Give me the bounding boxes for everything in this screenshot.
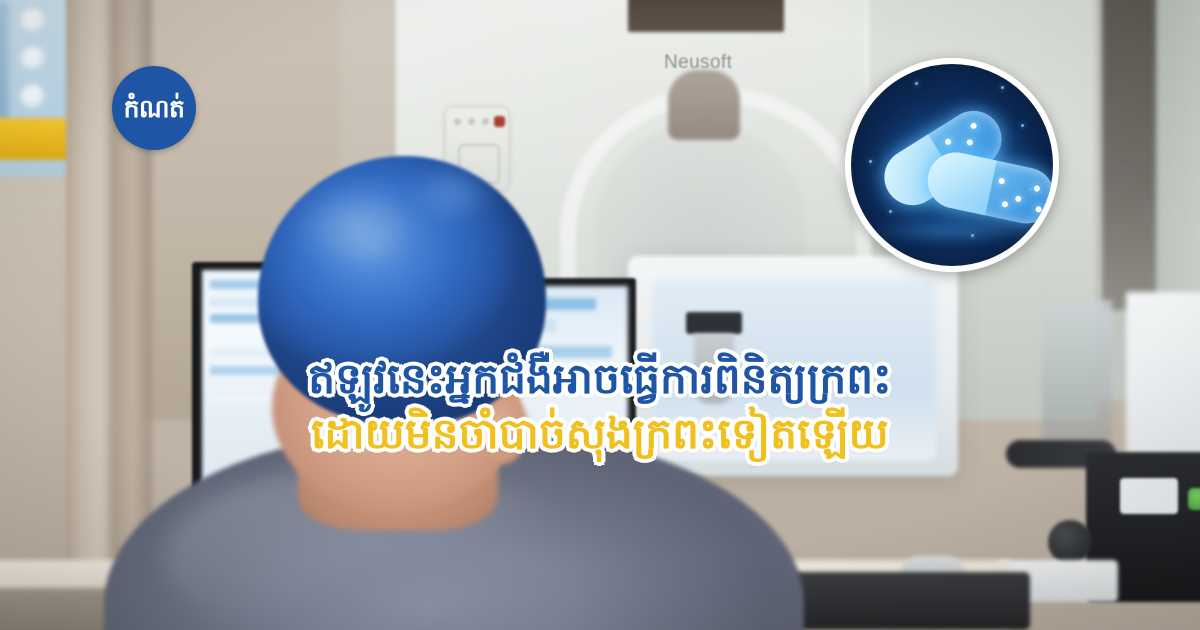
brand-logo-badge[interactable]: កំណត់	[112, 66, 196, 150]
brand-logo-label: កំណត់	[124, 96, 185, 121]
social-media-image-card: Neusoft	[0, 0, 1200, 630]
capsule-floor-glow	[865, 218, 1041, 244]
headline-line-1: ឥឡូវនេះអ្នកជំងឺអាចធ្វើការពិនិត្យក្រពះ	[0, 352, 1200, 407]
headline-line-2: ដោយមិនចាំបាច់សុងក្រពះទៀតឡើយ	[0, 407, 1200, 462]
headline-overlay: ឥឡូវនេះអ្នកជំងឺអាចធ្វើការពិនិត្យក្រពះ ដោ…	[0, 352, 1200, 461]
digital-capsule-circle-graphic	[845, 58, 1059, 272]
